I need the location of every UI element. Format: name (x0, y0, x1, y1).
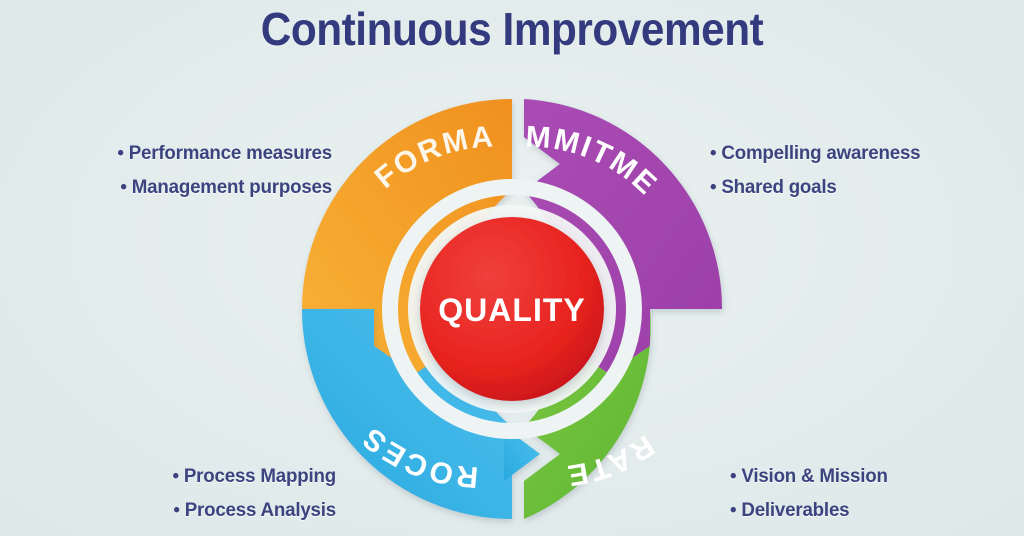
page-title: Continuous Improvement (41, 2, 983, 56)
diagram-canvas: Continuous Improvement • Performance mea… (0, 0, 1024, 536)
bullets-strategy: • Vision & Mission • Deliverables (730, 459, 1020, 527)
cycle-wheel: PERFORMANCE COMMITMENT STRATEGY (252, 74, 772, 536)
center-label: QUALITY (438, 292, 585, 328)
